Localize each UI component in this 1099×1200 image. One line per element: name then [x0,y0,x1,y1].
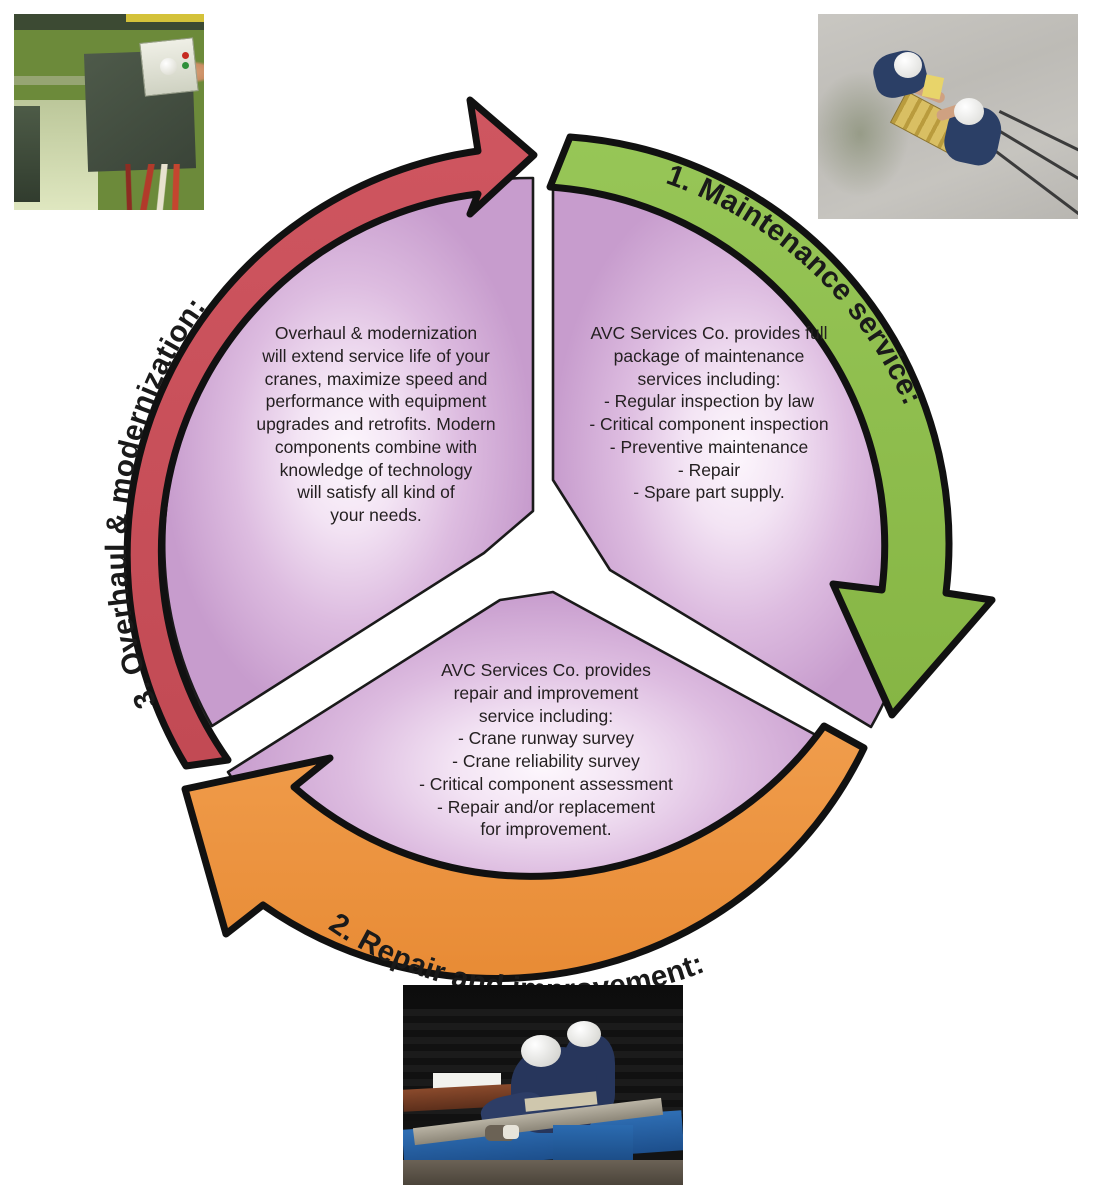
segment-body-line: - Spare part supply. [561,481,857,504]
segment-body-maintenance: AVC Services Co. provides fullpackage of… [561,322,857,504]
segment-body-line: - Repair and/or replacement [396,796,696,819]
segment-body-line: for improvement. [396,818,696,841]
segment-body-line: services including: [561,368,857,391]
segment-body-line: knowledge of technology [238,459,514,482]
diagram-page: 1. Maintenance service: 2. Repair and im… [0,0,1099,1200]
photo-workers-overhead [818,14,1078,219]
segment-body-line: - Critical component inspection [561,413,857,436]
segment-body-repair: AVC Services Co. providesrepair and impr… [396,659,696,841]
segment-body-line: AVC Services Co. provides full [561,322,857,345]
segment-body-line: - Repair [561,459,857,482]
segment-body-line: AVC Services Co. provides [396,659,696,682]
segment-body-line: - Crane runway survey [396,727,696,750]
segment-body-line: cranes, maximize speed and [238,368,514,391]
segment-body-line: performance with equipment [238,390,514,413]
segment-body-line: package of maintenance [561,345,857,368]
segment-body-line: repair and improvement [396,682,696,705]
segment-body-line: service including: [396,705,696,728]
segment-body-line: upgrades and retrofits. Modern [238,413,514,436]
photo-electrical-cabinet [14,14,204,210]
segment-body-line: - Crane reliability survey [396,750,696,773]
segment-body-line: - Regular inspection by law [561,390,857,413]
photo-girder-work [403,985,683,1185]
segment-body-line: components combine with [238,436,514,459]
segment-body-line: - Critical component assessment [396,773,696,796]
segment-body-line: will extend service life of your [238,345,514,368]
segment-body-line: will satisfy all kind of [238,481,514,504]
segment-body-overhaul: Overhaul & modernizationwill extend serv… [238,322,514,527]
segment-body-line: - Preventive maintenance [561,436,857,459]
segment-body-line: your needs. [238,504,514,527]
segment-body-line: Overhaul & modernization [238,322,514,345]
